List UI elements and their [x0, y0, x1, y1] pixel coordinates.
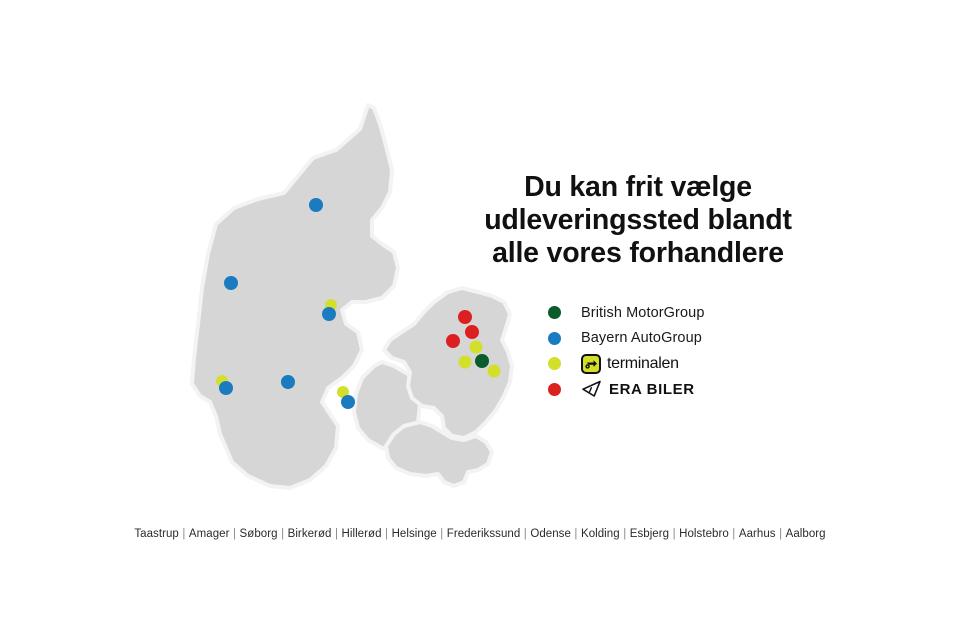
headline-line-2: udleveringssted blandt — [452, 204, 824, 237]
city-name: Amager — [189, 528, 230, 540]
map-marker[interactable] — [219, 381, 233, 395]
legend-item-label: British MotorGroup — [581, 305, 704, 321]
city-separator: | — [278, 528, 288, 540]
city-separator: | — [437, 528, 447, 540]
map-marker[interactable] — [465, 325, 479, 339]
legend-item-bayern-autogroup[interactable]: Bayern AutoGroup — [548, 326, 878, 352]
city-separator: | — [669, 528, 679, 540]
dot-icon — [548, 357, 561, 370]
map-marker[interactable] — [488, 365, 501, 378]
map-landmasses — [192, 105, 512, 488]
legend: British MotorGroup Bayern AutoGroup term… — [548, 300, 878, 402]
city-name: Søborg — [240, 528, 278, 540]
dot-icon — [548, 332, 561, 345]
headline-line-3: alle vores forhandlere — [452, 237, 824, 270]
city-separator: | — [776, 528, 786, 540]
city-name: Frederikssund — [447, 528, 521, 540]
city-separator: | — [230, 528, 240, 540]
headline-line-1: Du kan frit vælge — [452, 171, 824, 204]
map-marker[interactable] — [281, 375, 295, 389]
city-separator: | — [179, 528, 189, 540]
era-biler-logo: ERA BILER — [581, 380, 695, 398]
terminalen-logo: terminalen — [581, 354, 679, 374]
dot-icon — [548, 306, 561, 319]
city-name: Aarhus — [739, 528, 776, 540]
dot-icon — [548, 383, 561, 396]
city-name: Aalborg — [786, 528, 826, 540]
city-list: Taastrup|Amager|Søborg|Birkerød|Hillerød… — [0, 528, 960, 540]
page-title: Du kan frit vælge udleveringssted blandt… — [452, 171, 824, 270]
legend-item-terminalen[interactable]: terminalen — [548, 351, 878, 377]
city-name: Birkerød — [288, 528, 332, 540]
legend-item-british-motorgroup[interactable]: British MotorGroup — [548, 300, 878, 326]
city-separator: | — [729, 528, 739, 540]
city-separator: | — [331, 528, 341, 540]
city-separator: | — [382, 528, 392, 540]
city-name: Holstebro — [679, 528, 729, 540]
map-marker[interactable] — [470, 341, 483, 354]
city-separator: | — [520, 528, 530, 540]
map-marker[interactable] — [458, 310, 472, 324]
city-name: Taastrup — [134, 528, 179, 540]
map-marker[interactable] — [224, 276, 238, 290]
era-biler-logo-icon — [581, 380, 603, 398]
city-name: Esbjerg — [630, 528, 669, 540]
city-name: Odense — [530, 528, 571, 540]
map-marker[interactable] — [475, 354, 489, 368]
map-marker[interactable] — [322, 307, 336, 321]
legend-item-era-biler[interactable]: ERA BILER — [548, 377, 878, 403]
legend-item-label: Bayern AutoGroup — [581, 330, 702, 346]
legend-item-label: ERA BILER — [609, 381, 695, 398]
map-container — [186, 96, 526, 506]
denmark-map-svg — [186, 96, 526, 506]
map-marker[interactable] — [309, 198, 323, 212]
city-name: Kolding — [581, 528, 620, 540]
page-root: Du kan frit vælge udleveringssted blandt… — [0, 0, 960, 640]
city-separator: | — [571, 528, 581, 540]
city-name: Helsinge — [392, 528, 437, 540]
map-marker[interactable] — [341, 395, 355, 409]
legend-item-label: terminalen — [607, 355, 679, 373]
city-separator: | — [620, 528, 630, 540]
city-name: Hillerød — [342, 528, 382, 540]
map-marker[interactable] — [446, 334, 460, 348]
map-marker[interactable] — [459, 356, 472, 369]
terminalen-logo-icon — [581, 354, 601, 374]
